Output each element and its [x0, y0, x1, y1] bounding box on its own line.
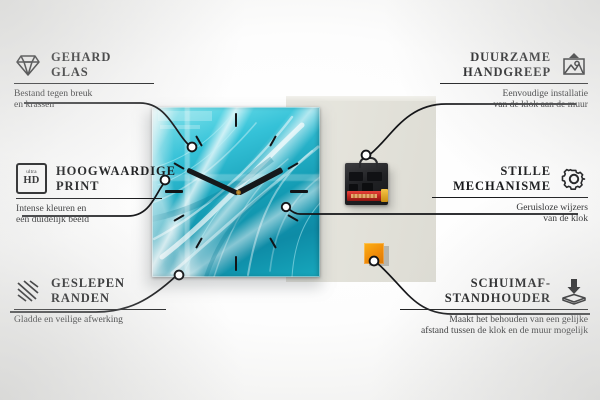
callout-tempered-glass: GEHARD GLAS Bestand tegen breuk en krass…	[14, 50, 154, 111]
callout-desc-line2: van de klok aan de muur	[440, 99, 588, 110]
callout-title-line1: GEHARD	[51, 50, 111, 65]
callout-divider	[16, 198, 162, 199]
callout-title-line1: HOOGWAARDIGE	[56, 164, 176, 179]
callout-title-line2: RANDEN	[51, 291, 125, 306]
diagonal-lines-icon	[14, 277, 42, 305]
gear-icon	[560, 165, 588, 193]
callout-title-line1: SCHUIMAF-	[445, 276, 551, 291]
callout-header: GEHARD GLAS	[14, 50, 154, 79]
infographic-canvas: GEHARD GLAS Bestand tegen breuk en krass…	[0, 0, 600, 400]
clock-center-pin	[236, 190, 241, 195]
callout-desc-line1: Geruisloze wijzers	[432, 202, 588, 213]
diamond-icon	[14, 51, 42, 79]
ultra-hd-icon: ultra HD	[16, 163, 47, 194]
callout-desc-line2: van de klok	[432, 213, 588, 224]
callout-foam-spacer: SCHUIMAF- STANDHOUDER Maakt het behouden…	[400, 276, 588, 337]
callout-header: STILLE MECHANISME	[432, 164, 588, 193]
callout-desc-line2: afstand tussen de klok en de muur mogeli…	[400, 325, 588, 336]
battery-label-stripe	[351, 194, 377, 198]
battery-positive-terminal	[381, 189, 388, 202]
callout-divider	[14, 309, 166, 310]
callout-title-line2: HANDGREEP	[463, 65, 551, 80]
mechanism-slot-a	[349, 172, 363, 181]
mechanism-hanging-loop	[359, 157, 378, 168]
callout-title-line1: STILLE	[453, 164, 551, 179]
callout-divider	[400, 309, 588, 310]
mechanism-slot-c	[349, 184, 358, 191]
callout-durable-hanger: DUURZAME HANDGREEP Eenvoudige installati…	[440, 50, 588, 111]
callout-desc-line1: Maakt het behouden van een gelijke	[400, 314, 588, 325]
press-down-pad-icon	[560, 277, 588, 305]
foam-spacer	[364, 243, 384, 264]
callout-desc-line1: Intense kleuren en	[16, 203, 162, 214]
callout-header: DUURZAME HANDGREEP	[440, 50, 588, 79]
callout-header: GESLEPEN RANDEN	[14, 276, 166, 305]
picture-frame-icon	[560, 51, 588, 79]
callout-desc-line2: een duidelijk beeld	[16, 214, 162, 225]
callout-high-quality-print: ultra HD HOOGWAARDIGE PRINT Intense kleu…	[16, 163, 162, 226]
callout-title-line1: DUURZAME	[463, 50, 551, 65]
callout-title-line1: GESLEPEN	[51, 276, 125, 291]
callout-silent-mechanism: STILLE MECHANISME Geruisloze wijzers van…	[432, 164, 588, 225]
aa-battery	[347, 191, 383, 201]
callout-title-line2: STANDHOUDER	[445, 291, 551, 306]
tick-3	[290, 190, 308, 193]
callout-desc-line1: Bestand tegen breuk	[14, 88, 154, 99]
callout-desc-line2: en krassen	[14, 99, 154, 110]
callout-ground-edges: GESLEPEN RANDEN Gladde en veilige afwerk…	[14, 276, 166, 325]
callout-title-line2: PRINT	[56, 179, 176, 194]
callout-desc-line1: Gladde en veilige afwerking	[14, 314, 166, 325]
callout-header: SCHUIMAF- STANDHOUDER	[400, 276, 588, 305]
callout-title-line2: GLAS	[51, 65, 111, 80]
tick-12	[235, 113, 237, 127]
callout-header: ultra HD HOOGWAARDIGE PRINT	[16, 163, 162, 194]
callout-divider	[14, 83, 154, 84]
callout-desc-line1: Eenvoudige installatie	[440, 88, 588, 99]
ultra-hd-icon-big-label: HD	[23, 176, 39, 187]
callout-title-line2: MECHANISME	[453, 179, 551, 194]
mechanism-slot-b	[367, 172, 382, 181]
callout-divider	[440, 83, 588, 84]
callout-divider	[432, 197, 588, 198]
tick-6	[235, 256, 237, 271]
